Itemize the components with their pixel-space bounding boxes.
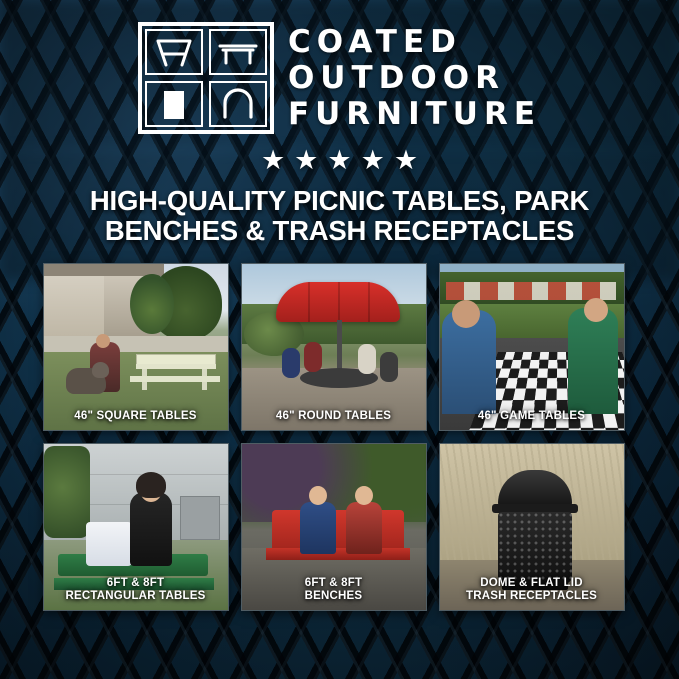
headline-line-1: HIGH-QUALITY PICNIC TABLES, PARK <box>20 186 660 216</box>
logo-line-3: FURNITURE <box>288 97 541 131</box>
bench-icon <box>209 29 267 75</box>
trash-receptacle-icon <box>145 81 203 127</box>
brand-logo: COATED OUTDOOR FURNITURE <box>138 22 541 134</box>
gallery-item-trash-receptacles[interactable]: DOME & FLAT LID TRASH RECEPTACLES <box>439 443 625 611</box>
star-icon-3: ★ <box>327 147 351 174</box>
star-icon-5: ★ <box>394 147 418 174</box>
star-icon-2: ★ <box>294 147 318 174</box>
star-icon-4: ★ <box>361 147 385 174</box>
arch-bench-icon <box>209 81 267 127</box>
gallery-item-game-tables[interactable]: 46" GAME TABLES <box>439 263 625 431</box>
gallery-item-rectangular-tables[interactable]: 6FT & 8FT RECTANGULAR TABLES <box>43 443 229 611</box>
product-gallery: 46" SQUARE TABLES 46 <box>43 263 637 611</box>
headline: HIGH-QUALITY PICNIC TABLES, PARK BENCHES… <box>20 186 660 246</box>
gallery-caption-line-2: TRASH RECEPTACLES <box>444 590 620 603</box>
logo-wordmark: COATED OUTDOOR FURNITURE <box>288 25 541 131</box>
gallery-item-round-tables[interactable]: 46" ROUND TABLES <box>241 263 427 431</box>
gallery-caption: DOME & FLAT LID TRASH RECEPTACLES <box>440 572 624 610</box>
gallery-caption: 46" GAME TABLES <box>440 405 624 430</box>
gallery-caption-line-1: 6FT & 8FT <box>246 577 422 590</box>
gallery-caption: 46" SQUARE TABLES <box>44 405 228 430</box>
headline-line-2: BENCHES & TRASH RECEPTACLES <box>20 216 660 246</box>
star-icon-1: ★ <box>261 147 285 174</box>
gallery-caption-line-2: BENCHES <box>246 590 422 603</box>
gallery-caption-line-1: DOME & FLAT LID <box>444 577 620 590</box>
gallery-item-benches[interactable]: 6FT & 8FT BENCHES <box>241 443 427 611</box>
gallery-caption: 6FT & 8FT RECTANGULAR TABLES <box>44 572 228 610</box>
logo-line-1: COATED <box>288 25 541 59</box>
gallery-caption: 46" ROUND TABLES <box>242 405 426 430</box>
gallery-caption-line-1: 6FT & 8FT <box>48 577 224 590</box>
logo-line-2: OUTDOOR <box>288 61 541 95</box>
gallery-caption-line-2: RECTANGULAR TABLES <box>48 590 224 603</box>
product-banner-image: COATED OUTDOOR FURNITURE ★ ★ ★ ★ ★ HIGH-… <box>0 0 679 679</box>
star-rating: ★ ★ ★ ★ ★ <box>261 147 418 174</box>
gallery-item-square-tables[interactable]: 46" SQUARE TABLES <box>43 263 229 431</box>
logo-icon-grid <box>138 22 274 134</box>
picnic-table-icon <box>145 29 203 75</box>
gallery-caption: 6FT & 8FT BENCHES <box>242 572 426 610</box>
